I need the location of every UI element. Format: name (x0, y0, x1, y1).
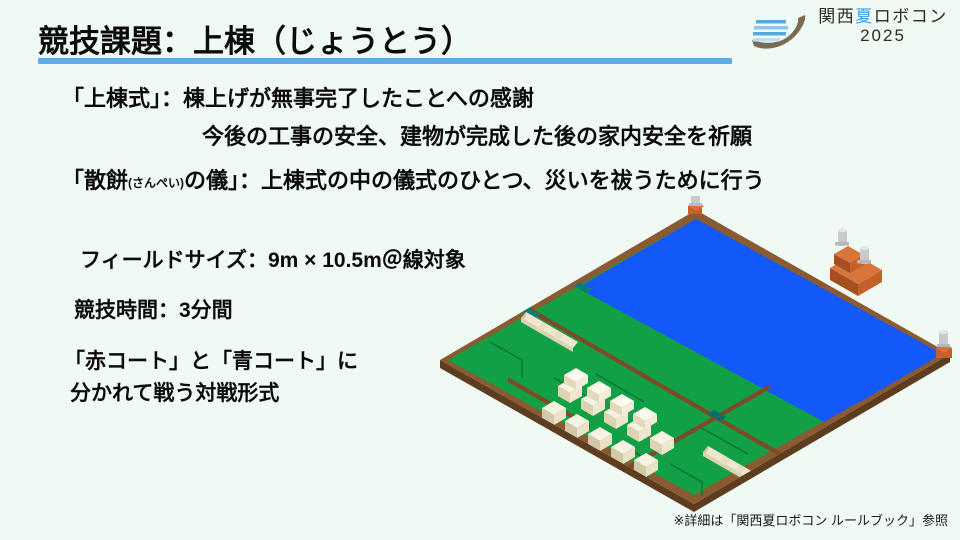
logo-name-tail: ロボコン (874, 7, 948, 26)
description-line-1: 「上棟式」：棟上げが無事完了したことへの感謝 (62, 88, 922, 110)
event-logo: 関西夏ロボコン 2025 (748, 8, 956, 60)
logo-wordmark: 関西夏ロボコン 2025 (810, 8, 956, 45)
corner-post-right (936, 330, 952, 358)
spec-match-time: 競技時間：3分間 (74, 300, 466, 321)
description-line-3: 「散餅(さんぺい)の儀」：上棟式の中の儀式のひとつ、災いを祓うために行う (62, 170, 922, 192)
description-furigana: (さんぺい) (128, 176, 184, 190)
house-structure (830, 228, 882, 296)
footnote: ※詳細は「関西夏ロボコン ルールブック」参照 (673, 510, 948, 529)
title-underline (38, 58, 732, 64)
spec-courts-line-2: 分かれて戦う対戦形式 (70, 383, 466, 404)
description-line-3-a: 「散餅 (62, 168, 128, 193)
description-block: 「上棟式」：棟上げが無事完了したことへの感謝 今後の工事の安全、建物が完成した後… (62, 88, 922, 192)
corner-post-top (688, 196, 704, 214)
description-line-2: 今後の工事の安全、建物が完成した後の家内安全を祈願 (62, 126, 922, 148)
spec-courts-line-1: 「赤コート」と「青コート」に (64, 351, 466, 372)
isometric-competition-field (430, 196, 960, 520)
logo-name-main: 関西 (818, 7, 855, 26)
logo-year: 2025 (810, 27, 956, 45)
spec-field-size: フィールドサイズ：9m × 10.5m＠線対象 (80, 250, 466, 271)
page-title: 競技課題：上棟（じょうとう） (38, 16, 472, 61)
logo-name-hot: 夏 (855, 7, 874, 26)
description-line-3-b: の儀」：上棟式の中の儀式のひとつ、災いを祓うために行う (184, 168, 765, 193)
brush-stroke-icon (748, 12, 810, 54)
spec-list: フィールドサイズ：9m × 10.5m＠線対象 競技時間：3分間 「赤コート」と… (64, 250, 466, 404)
slide-root: 競技課題：上棟（じょうとう） 関西夏ロボコン 2025 「上棟式」：棟上げが無事… (0, 0, 960, 540)
